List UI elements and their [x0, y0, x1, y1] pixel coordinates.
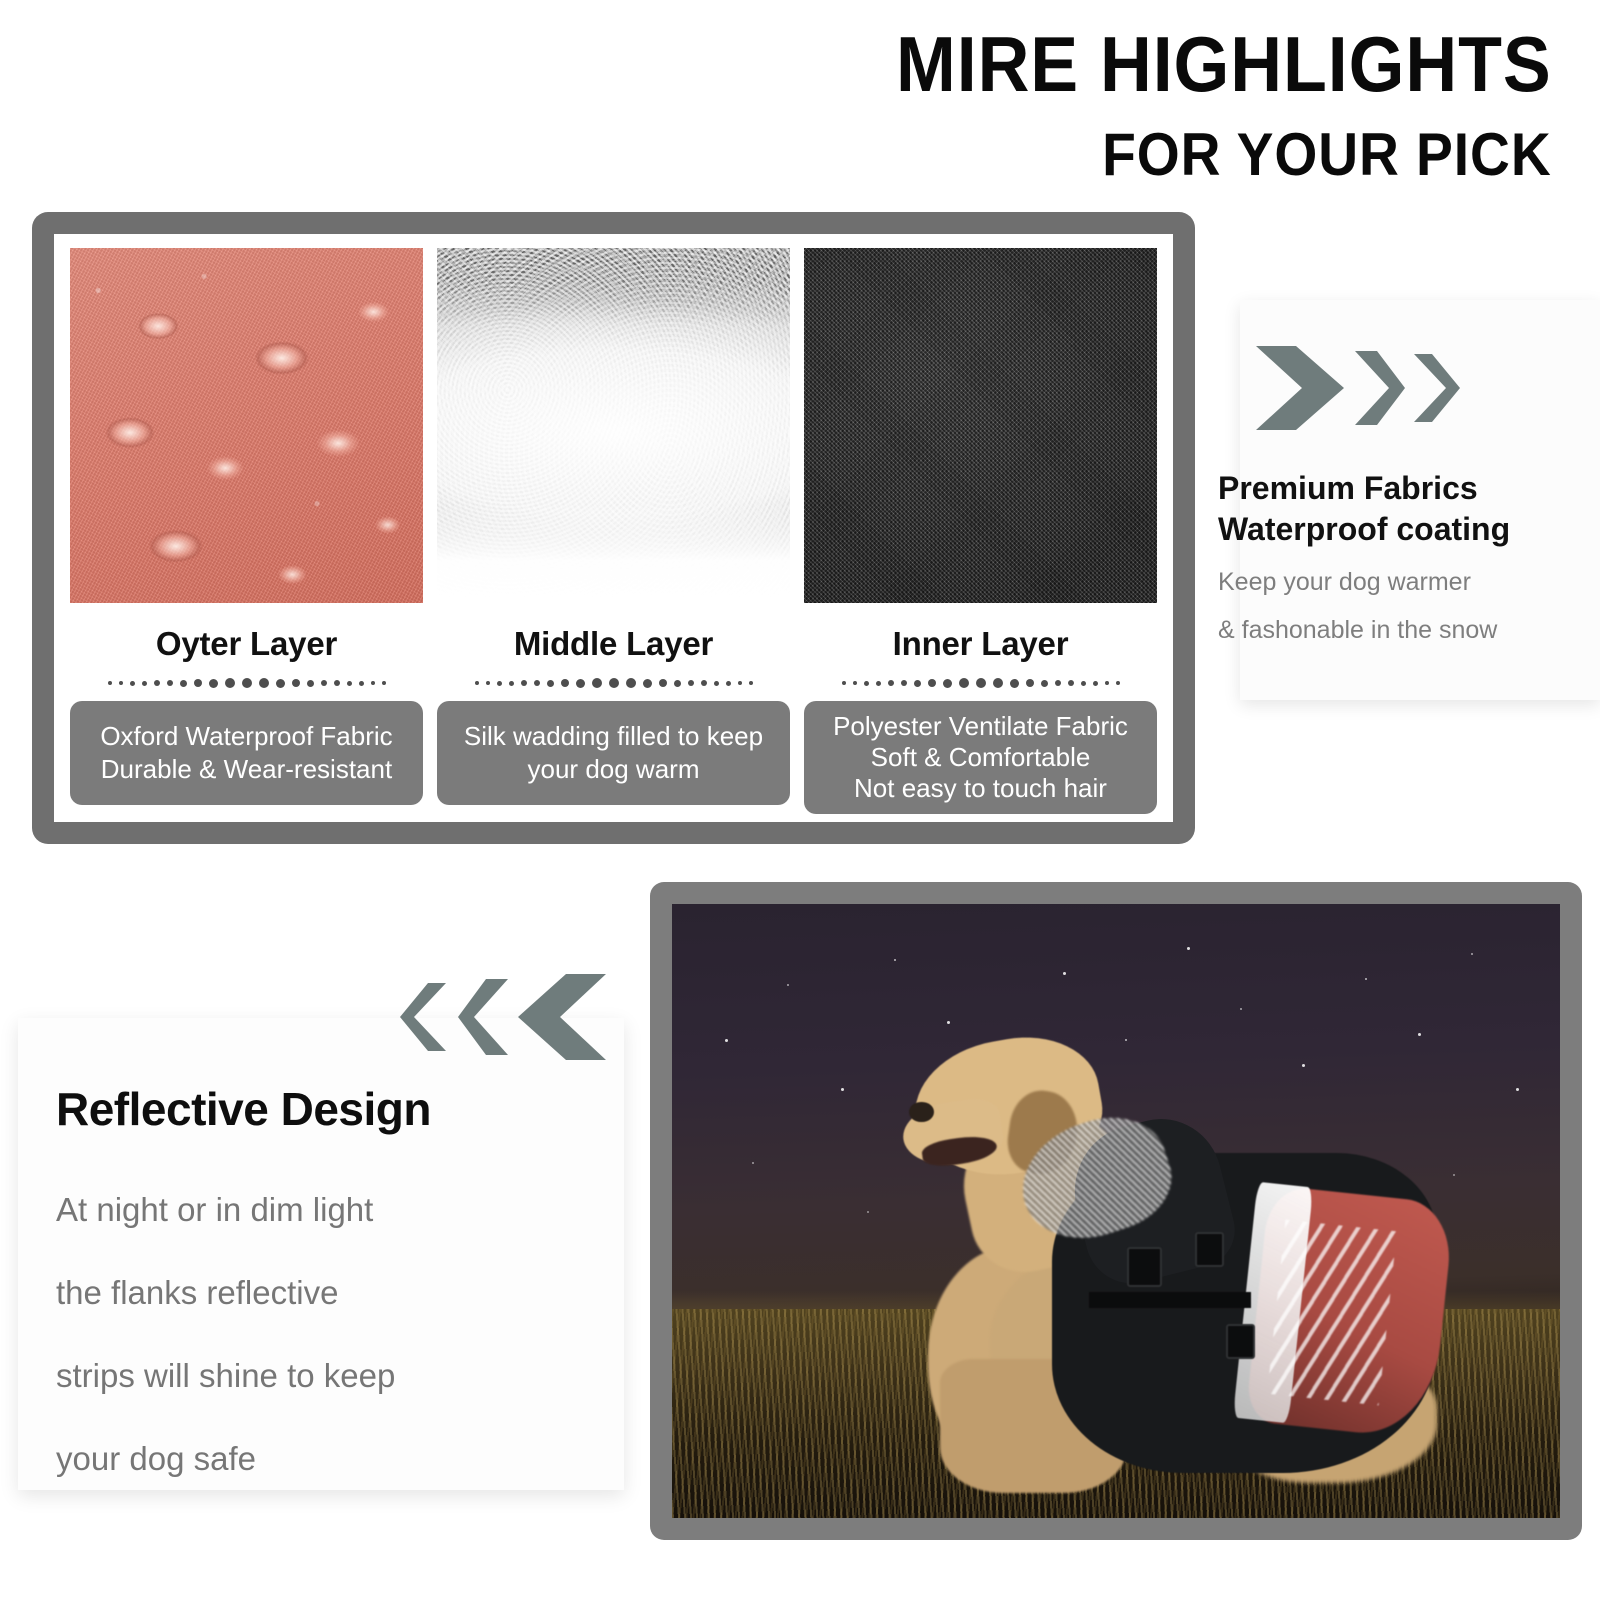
layer-description-line: Silk wadding filled to keep: [464, 720, 763, 753]
layer-description-line: Soft & Comfortable: [871, 742, 1091, 773]
page-title-line-1: MIRE HIGHLIGHTS: [896, 24, 1552, 104]
layer-title: Inner Layer: [804, 625, 1157, 663]
reflective-body-line: At night or in dim light: [56, 1168, 596, 1251]
fabric-layer-columns: Oyter Layer Oxford Waterproof Fabric Dur…: [70, 248, 1157, 814]
layer-description: Polyester Ventilate Fabric Soft & Comfor…: [804, 701, 1157, 814]
dotted-divider: [804, 673, 1157, 693]
premium-fabrics-card: Premium Fabrics Waterproof coating Keep …: [1240, 300, 1600, 700]
chevron-left-triple-icon: [398, 970, 610, 1064]
fabric-layer-column: Middle Layer Silk wadding filled to keep…: [437, 248, 790, 805]
coral-waterproof-fabric-swatch: [70, 248, 423, 603]
fabric-layer-column: Oyter Layer Oxford Waterproof Fabric Dur…: [70, 248, 423, 805]
layer-description: Silk wadding filled to keep your dog war…: [437, 701, 790, 805]
dotted-divider: [70, 673, 423, 693]
layer-title: Middle Layer: [437, 625, 790, 663]
dog-nose: [909, 1102, 934, 1123]
white-silk-wadding-swatch: [437, 248, 790, 603]
chevron-right-triple-icon: [1252, 342, 1462, 434]
night-dog-photo: [672, 904, 1560, 1518]
layer-title: Oyter Layer: [70, 625, 423, 663]
reflective-design-title: Reflective Design: [56, 1082, 431, 1136]
fabric-layer-column: Inner Layer Polyester Ventilate Fabric S…: [804, 248, 1157, 814]
jacket-strap: [1089, 1292, 1251, 1307]
reflective-design-body: At night or in dim light the flanks refl…: [56, 1168, 596, 1500]
premium-sub-line-1: Keep your dog warmer: [1218, 558, 1600, 606]
reflective-body-line: the flanks reflective: [56, 1251, 596, 1334]
premium-fabrics-subtitle: Keep your dog warmer & fashonable in the…: [1218, 558, 1600, 654]
fabric-layers-card: Oyter Layer Oxford Waterproof Fabric Dur…: [54, 234, 1173, 822]
jacket-buckle: [1226, 1324, 1255, 1359]
premium-title-line-1: Premium Fabrics: [1218, 468, 1600, 509]
layer-description-line: Durable & Wear-resistant: [101, 753, 392, 786]
page-header: MIRE HIGHLIGHTS FOR YOUR PICK: [0, 0, 1600, 200]
dotted-divider: [437, 673, 790, 693]
jacket-reflective-text: [1267, 1220, 1397, 1406]
premium-title-line-2: Waterproof coating: [1218, 509, 1600, 550]
page-title-line-2: FOR YOUR PICK: [1102, 124, 1552, 186]
reflective-design-card: Reflective Design At night or in dim lig…: [18, 1018, 624, 1490]
fabric-layers-panel: Oyter Layer Oxford Waterproof Fabric Dur…: [32, 212, 1195, 844]
black-polyester-mesh-swatch: [804, 248, 1157, 603]
reflective-body-line: strips will shine to keep: [56, 1334, 596, 1417]
premium-sub-line-2: & fashonable in the snow: [1218, 606, 1600, 654]
layer-description-line: Not easy to touch hair: [854, 773, 1107, 804]
layer-description: Oxford Waterproof Fabric Durable & Wear-…: [70, 701, 423, 805]
layer-description-line: your dog warm: [528, 753, 700, 786]
reflective-body-line: your dog safe: [56, 1417, 596, 1500]
night-photo-panel: [650, 882, 1582, 1540]
jacket-buckle: [1127, 1247, 1162, 1287]
layer-description-line: Oxford Waterproof Fabric: [100, 720, 392, 753]
premium-fabrics-title: Premium Fabrics Waterproof coating: [1218, 468, 1600, 550]
dog-wearing-jacket: [903, 978, 1525, 1494]
layer-description-line: Polyester Ventilate Fabric: [833, 711, 1128, 742]
jacket-buckle: [1195, 1232, 1224, 1267]
